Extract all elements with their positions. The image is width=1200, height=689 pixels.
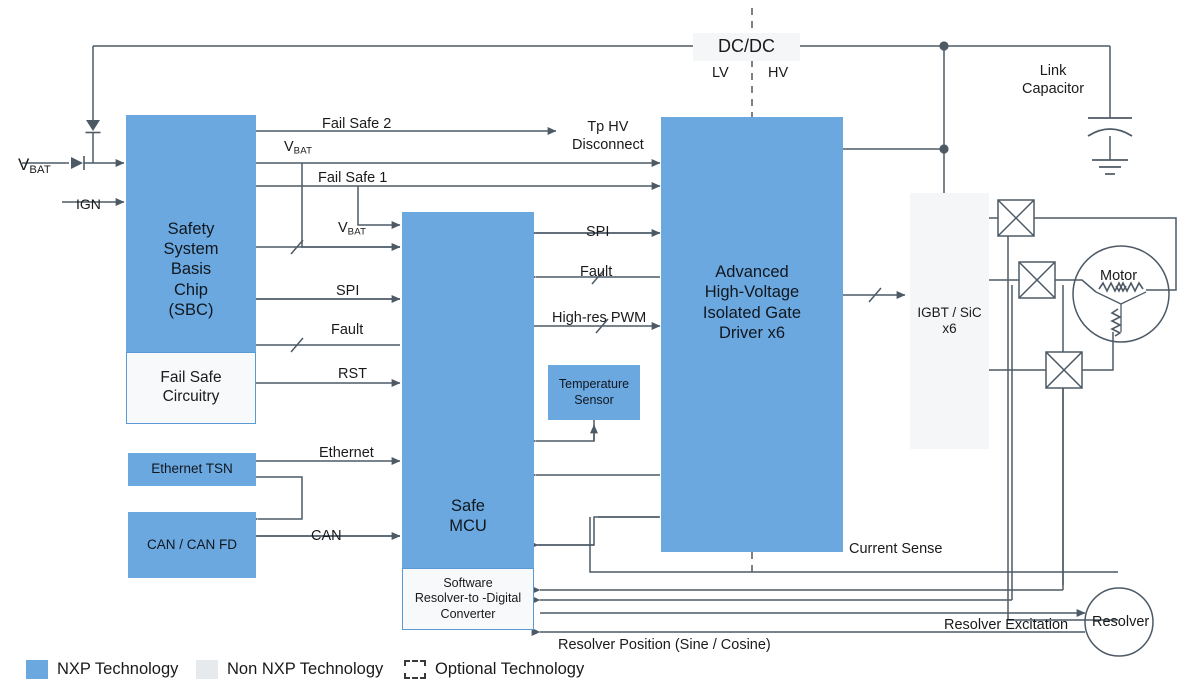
wire-phase-c [1082, 332, 1113, 370]
label-resolver-excitation: Resolver Excitation [944, 617, 1068, 633]
label-can-signal: CAN [311, 528, 342, 544]
label-resolver-position: Resolver Position (Sine / Cosine) [558, 637, 771, 653]
switch-symbol-b [1019, 262, 1055, 298]
label-link-capacitor: Link Capacitor [1022, 62, 1084, 98]
label-motor: Motor [1100, 268, 1137, 284]
block-diagram-canvas: Safety System Basis Chip (SBC) Fail Safe… [0, 0, 1200, 689]
label-fail-safe-1: Fail Safe 1 [318, 170, 387, 186]
label-fault-sbc: Fault [331, 322, 363, 338]
legend-label-non-nxp: Non NXP Technology [227, 660, 383, 679]
block-ethernet-tsn-label: Ethernet TSN [151, 461, 233, 477]
wire-phase-b [1055, 280, 1096, 292]
label-fail-safe-2: Fail Safe 2 [322, 116, 391, 132]
block-gate-driver[interactable]: Advanced High-Voltage Isolated Gate Driv… [661, 117, 843, 552]
label-hv: HV [768, 65, 788, 81]
legend-swatch-nxp [26, 660, 48, 679]
label-vbat-mcu-sub: BAT [348, 227, 367, 238]
label-current-sense: Current Sense [849, 541, 943, 557]
wire-temp-sensor-to-mcu [536, 420, 594, 441]
label-resolver: Resolver [1092, 614, 1149, 630]
legend-swatch-optional [404, 660, 426, 679]
motor-winding-bottom [1112, 309, 1120, 336]
label-ethernet: Ethernet [319, 445, 374, 461]
block-temperature-sensor-label: Temperature Sensor [559, 377, 629, 408]
label-fault-driver: Fault [580, 264, 612, 280]
label-tp-hv-disconnect: Tp HV Disconnect [572, 118, 644, 154]
block-can-label: CAN / CAN FD [147, 537, 237, 553]
block-gate-driver-label: Advanced High-Voltage Isolated Gate Driv… [703, 262, 801, 343]
label-vbat-mcu: VBAT [338, 220, 366, 238]
block-dcdc[interactable]: DC/DC [693, 33, 800, 61]
block-ethernet-tsn[interactable]: Ethernet TSN [128, 453, 256, 486]
label-spi-sbc: SPI [336, 283, 359, 299]
legend-label-nxp: NXP Technology [57, 660, 178, 679]
legend-label-optional: Optional Technology [435, 660, 584, 679]
label-vbat-sbc-out: VBAT [284, 139, 312, 157]
wire-driver-to-mcu-545 [536, 517, 659, 545]
legend-item-nxp: NXP Technology [26, 660, 178, 679]
wire-tsn-to-can [256, 477, 302, 519]
block-safe-mcu-label: Safe MCU [449, 496, 487, 536]
diode-symbol-vertical [86, 120, 101, 133]
block-fail-safe-circuitry-label: Fail Safe Circuitry [160, 369, 221, 407]
label-vbat-input-text: V [18, 155, 29, 174]
switch-symbol-a [998, 200, 1034, 236]
legend-item-non-nxp: Non NXP Technology [196, 660, 383, 679]
block-dcdc-label: DC/DC [718, 36, 775, 58]
block-igbt-label: IGBT / SiC x6 [917, 305, 981, 338]
label-vbat-sbc-out-sub: BAT [294, 146, 313, 157]
legend-item-optional: Optional Technology [404, 660, 584, 679]
block-igbt[interactable]: IGBT / SiC x6 [910, 193, 989, 449]
ground-symbol [1092, 160, 1128, 174]
block-can[interactable]: CAN / CAN FD [128, 512, 256, 578]
label-vbat-sbc-out-text: V [284, 139, 294, 155]
diode-symbol-series [71, 156, 84, 170]
legend-swatch-non-nxp [196, 660, 218, 679]
block-sbc-label: Safety System Basis Chip (SBC) [163, 219, 218, 320]
label-spi-driver: SPI [586, 224, 609, 240]
label-vbat-mcu-text: V [338, 220, 348, 236]
label-rst: RST [338, 366, 367, 382]
block-rdc-label: Software Resolver-to -Digital Converter [415, 576, 521, 622]
block-fail-safe-circuitry[interactable]: Fail Safe Circuitry [126, 352, 256, 424]
label-high-res-pwm: High-res PWM [552, 310, 646, 326]
switch-symbol-c [1046, 352, 1082, 388]
label-ign: IGN [76, 196, 101, 212]
block-temperature-sensor[interactable]: Temperature Sensor [548, 365, 640, 420]
label-vbat-input: VBAT [18, 155, 51, 176]
label-lv: LV [712, 65, 729, 81]
label-vbat-input-sub: BAT [29, 164, 51, 176]
block-resolver-to-digital-converter[interactable]: Software Resolver-to -Digital Converter [402, 568, 534, 630]
